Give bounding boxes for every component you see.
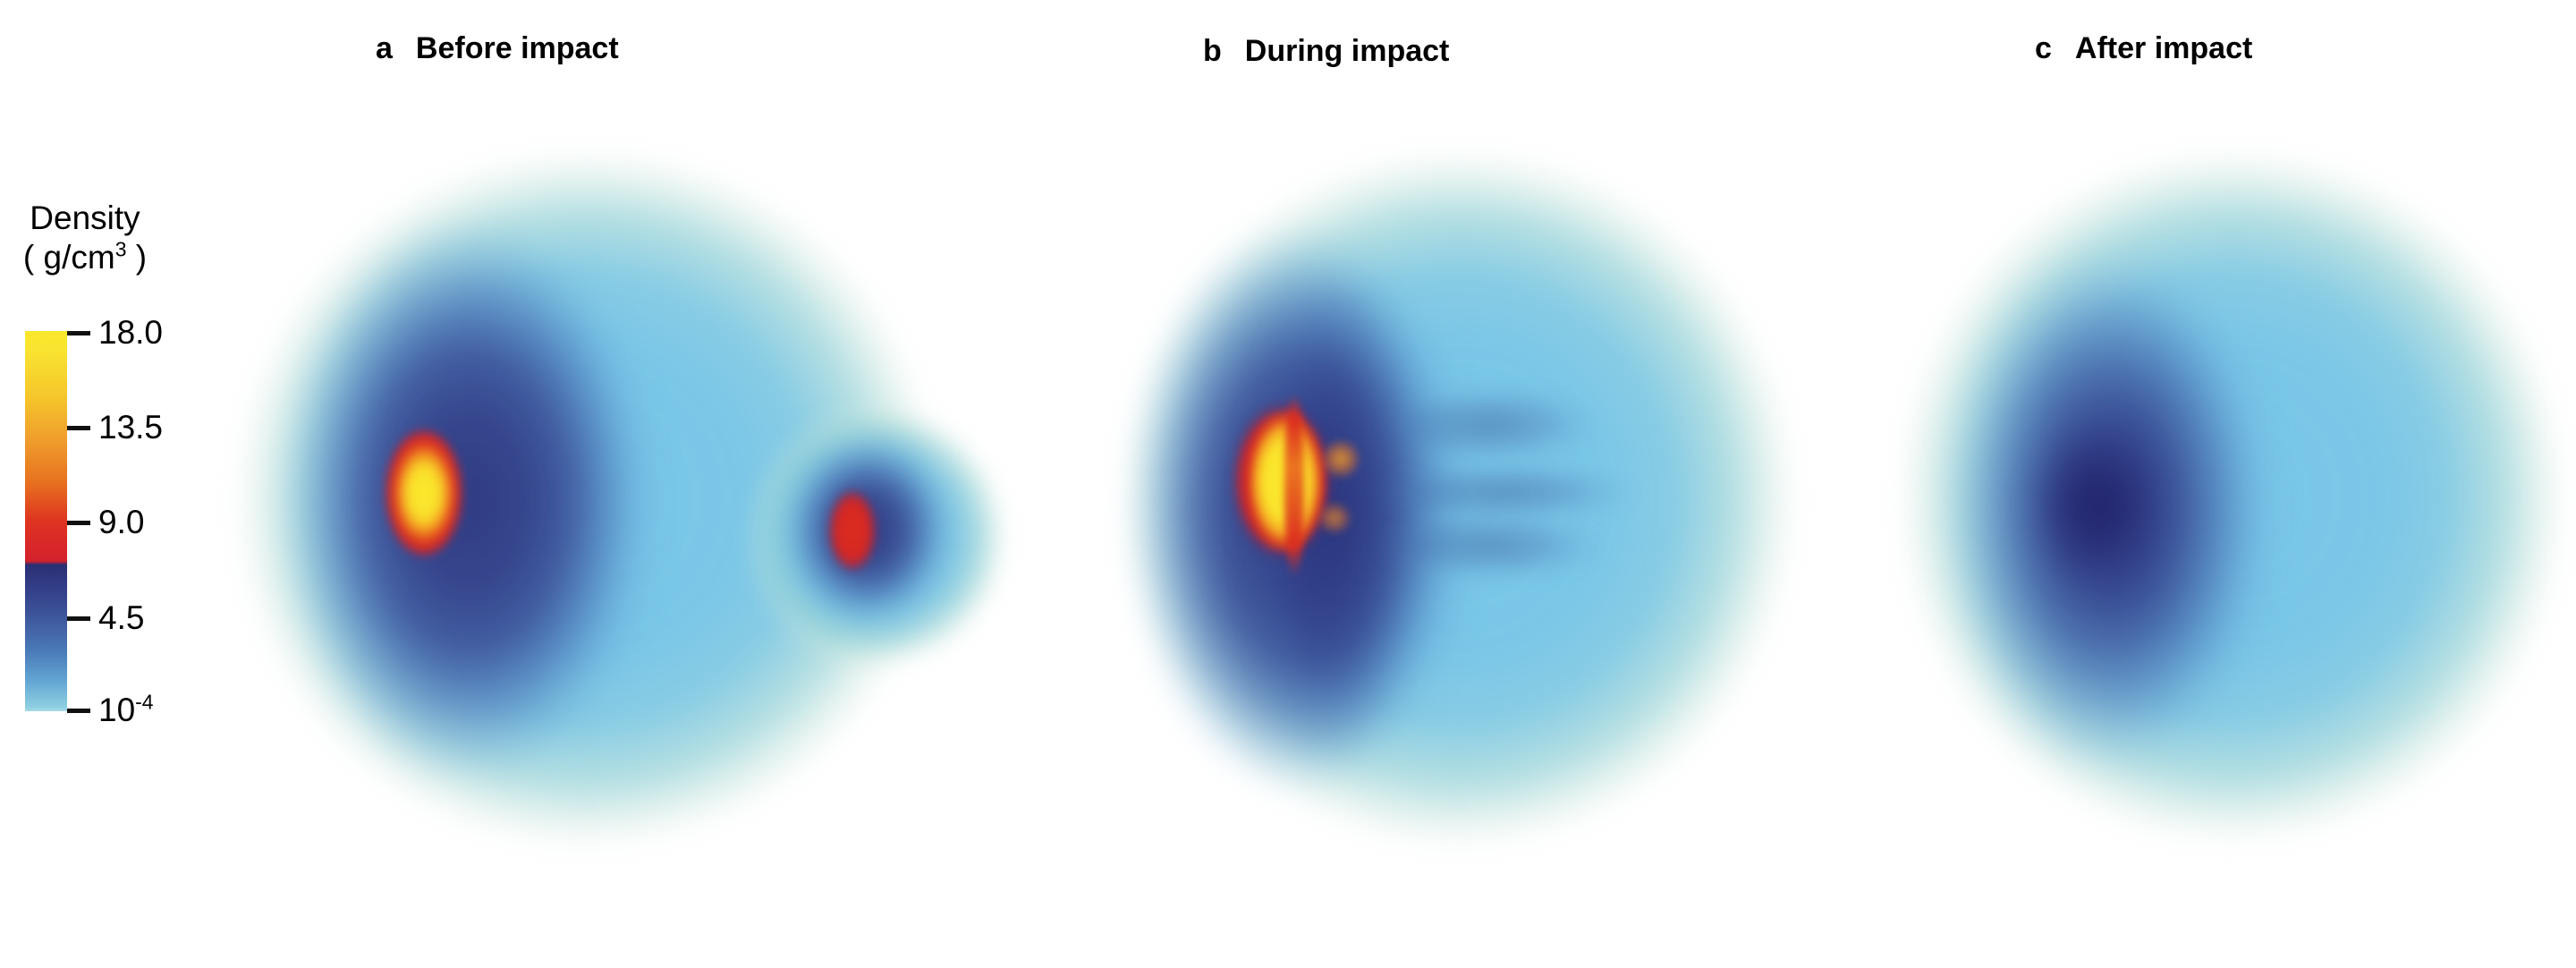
colorbar-label-9: 9.0: [98, 504, 144, 541]
colorbar-wrap: 18.0 13.5 9.0 4.5 10-4: [25, 331, 204, 725]
colorbar-label-13-5: 13.5: [98, 409, 163, 446]
colorbar-unit-exponent: 3: [115, 237, 127, 260]
density-colorbar-legend: Density ( g/cm3 ) 18.0 13.5 9.0 4.5 10-4: [0, 199, 206, 276]
panel-heading-a: aBefore impact: [376, 31, 619, 66]
core-shear-band-b: [1284, 394, 1304, 577]
colorbar-label-min: 10-4: [98, 692, 154, 729]
colorbar-title: Density ( g/cm3 ): [0, 199, 170, 276]
colorbar-label-18: 18.0: [98, 314, 163, 352]
panel-b-during-impact: [1109, 125, 1825, 877]
target-core-a: [383, 426, 465, 560]
ejecta-tendril-upper-b: [1377, 385, 1601, 465]
colorbar-tick-18: [67, 331, 90, 335]
panel-title-a: Before impact: [416, 31, 619, 65]
colorbar-tick-min: [67, 709, 90, 713]
panel-heading-b: bDuring impact: [1203, 34, 1449, 69]
colorbar-tick-9: [67, 521, 90, 525]
impact-simulation-figure: Density ( g/cm3 ) 18.0 13.5 9.0 4.5 10-4…: [0, 0, 2576, 968]
ejecta-blob-upper-b: [1320, 438, 1361, 480]
remnant-dense-center-c: [2030, 420, 2165, 590]
impactor-core-a: [826, 487, 878, 574]
panel-c-after-impact: [1887, 125, 2576, 877]
ejecta-blob-lower-b: [1317, 501, 1352, 535]
colorbar-label-min-base: 10: [98, 692, 135, 728]
panel-title-b: During impact: [1245, 34, 1450, 68]
panel-tag-a: a: [376, 31, 393, 65]
panel-tag-b: b: [1203, 34, 1222, 68]
colorbar-gradient: [25, 331, 67, 711]
colorbar-unit-suffix: ): [126, 239, 147, 276]
panel-heading-c: cAfter impact: [2035, 31, 2252, 66]
panel-tag-c: c: [2035, 31, 2052, 65]
colorbar-title-line2: ( g/cm3 ): [0, 238, 170, 277]
colorbar-tick-4-5: [67, 616, 90, 621]
colorbar-label-min-exponent: -4: [135, 691, 153, 714]
panel-a-before-impact: [233, 125, 966, 877]
colorbar-title-line1: Density: [0, 199, 170, 238]
panel-title-c: After impact: [2075, 31, 2252, 65]
colorbar-label-4-5: 4.5: [98, 599, 144, 637]
colorbar-tick-13-5: [67, 426, 90, 430]
target-mantle-a: [277, 215, 662, 787]
ejecta-tendril-lower-b: [1373, 510, 1606, 582]
colorbar-unit-prefix: ( g/cm: [23, 239, 115, 276]
